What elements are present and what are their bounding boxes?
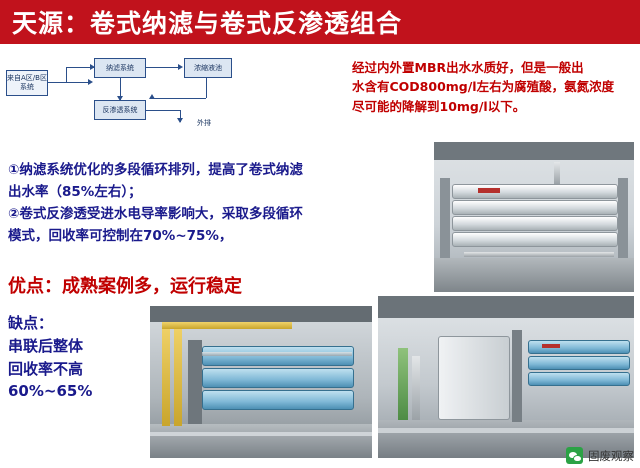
- flow-arrow-nf-ro: [117, 96, 123, 101]
- flow-node-inlet-label: 来自A区/B区 系统: [7, 74, 47, 92]
- photo-br-column: [512, 330, 522, 422]
- flow-node-inlet: 来自A区/B区 系统: [6, 70, 48, 96]
- photo-tr-vessel-1: [452, 184, 618, 199]
- process-flow-diagram: 来自A区/B区 系统 纳滤系统 反渗透系统 浓縮液池 外排: [6, 52, 242, 148]
- photo-br-pipe-green: [398, 348, 408, 420]
- photo-br-vessel-2: [528, 356, 630, 370]
- body-line-2: 出水率（85%左右）；: [8, 182, 344, 204]
- photo-tr-ceiling: [434, 142, 634, 160]
- cons-line-1: 缺点：: [8, 312, 158, 335]
- flow-arrow-inlet-nf: [88, 79, 93, 85]
- photo-tr-frame-left: [440, 178, 450, 258]
- photo-bl-floor: [150, 424, 372, 458]
- photo-bl-frame: [188, 340, 202, 424]
- flow-arrow-ro-out: [177, 118, 183, 123]
- photo-br-pipe-gray: [412, 356, 420, 420]
- cons-text-block: 缺点： 串联后整体 回收率不高 60%~65%: [8, 312, 158, 403]
- photo-bl-pipe-yellow-2: [174, 322, 182, 426]
- page-title: 天源：卷式纳滤与卷式反渗透组合: [0, 4, 402, 40]
- flow-node-concentrate: 浓縮液池: [184, 58, 232, 78]
- cons-line-2: 串联后整体: [8, 335, 158, 358]
- cons-line-3: 回收率不高: [8, 358, 158, 381]
- photo-bl-vessel-1: [202, 346, 354, 366]
- red-note-text: 经过内外置MBR出水水质好，但是一般出 水含有COD800mg/l左右为腐殖酸，…: [352, 58, 634, 116]
- body-line-4: 模式，回收率可控制在70%~75%，: [8, 226, 344, 248]
- note-line-1: 经过内外置MBR出水水质好，但是一般出: [352, 58, 634, 77]
- photo-tr-label-red: [478, 188, 500, 193]
- flow-connector-inlet-up: [66, 68, 67, 82]
- pros-text: 优点：成熟案例多，运行稳定: [8, 272, 348, 298]
- photo-bl-pipe-yellow-top: [162, 322, 292, 329]
- flow-node-ro-label: 反渗透系统: [103, 106, 138, 115]
- flow-connector-conc-down: [206, 78, 207, 98]
- photo-br-ceiling: [378, 296, 634, 318]
- flow-node-outlet: 外排: [184, 114, 224, 132]
- flow-connector-nf-conc: [146, 67, 178, 68]
- photo-bottom-left: [150, 306, 372, 458]
- flow-node-ro: 反渗透系统: [94, 100, 146, 120]
- photo-bl-pipe-gray: [202, 352, 352, 356]
- footer-watermark: 固废观察: [566, 447, 634, 464]
- photo-tr-frame-right: [618, 178, 628, 258]
- photo-tr-pipe-bottom: [464, 252, 614, 257]
- wechat-icon: [566, 447, 583, 464]
- flow-node-concentrate-label: 浓縮液池: [194, 64, 222, 73]
- photo-tr-vessel-2: [452, 200, 618, 215]
- flow-node-outlet-label: 外排: [197, 119, 211, 128]
- body-text-block: ①纳滤系统优化的多段循环排列，提高了卷式纳滤 出水率（85%左右）； ②卷式反渗…: [8, 160, 344, 247]
- photo-bl-vessel-2: [202, 368, 354, 388]
- flow-arrow-nf-conc: [178, 64, 183, 70]
- footer-label: 固废观察: [588, 448, 634, 464]
- photo-bl-rail: [150, 432, 372, 436]
- photo-br-label-red: [542, 344, 560, 348]
- flow-connector-inlet-nf: [48, 82, 88, 83]
- photo-tr-pipe-vertical: [554, 162, 560, 184]
- photo-bl-ceiling: [150, 306, 372, 322]
- flow-node-nf-label: 纳滤系统: [106, 64, 134, 73]
- slide-root: 天源：卷式纳滤与卷式反渗透组合 来自A区/B区 系统 纳滤系统 反渗透系统 浓縮…: [0, 0, 640, 468]
- flow-connector-ro-out: [146, 110, 180, 111]
- photo-bl-pipe-yellow-1: [162, 322, 170, 426]
- photo-br-vessel-3: [528, 372, 630, 386]
- body-line-3: ②卷式反渗透受进水电导率影响大，采取多段循环: [8, 204, 344, 226]
- photo-tr-vessel-4: [452, 232, 618, 247]
- photo-tr-floor: [434, 258, 634, 292]
- note-line-2: 水含有COD800mg/l左右为腐殖酸，氨氮浓度: [352, 77, 634, 96]
- flow-connector-recycle: [152, 98, 206, 99]
- cons-line-4: 60%~65%: [8, 380, 158, 403]
- body-line-1: ①纳滤系统优化的多段循环排列，提高了卷式纳滤: [8, 160, 344, 182]
- note-line-3: 尽可能的降解到10mg/l以下。: [352, 97, 634, 116]
- photo-bottom-right: [378, 296, 634, 458]
- slide-title-bar: 天源：卷式纳滤与卷式反渗透组合: [0, 0, 640, 44]
- photo-top-right: [434, 142, 634, 292]
- photo-br-skid-panel: [438, 336, 510, 420]
- photo-tr-vessel-3: [452, 216, 618, 231]
- photo-br-rail: [378, 428, 634, 433]
- photo-bl-vessel-3: [202, 390, 354, 410]
- flow-node-nf: 纳滤系统: [94, 58, 146, 78]
- flow-arrow-up-nf: [90, 64, 95, 70]
- flow-arrow-recycle: [149, 94, 155, 99]
